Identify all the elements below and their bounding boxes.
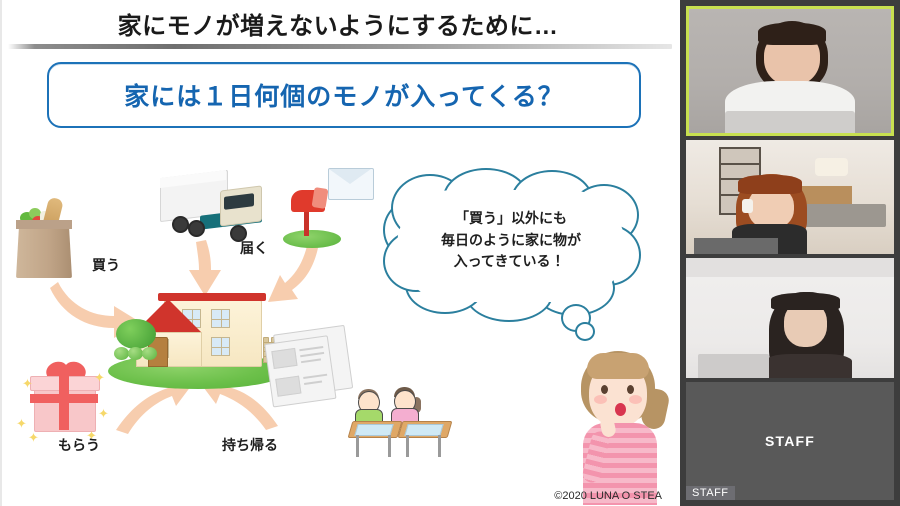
gift-box-illustration: ✦ ✦ ✦ ✦ ✦ ✦ — [28, 362, 104, 434]
mailbox-illustration — [283, 182, 343, 248]
label-receive: もらう — [58, 435, 100, 455]
newspaper-illustration — [263, 325, 357, 412]
title-divider — [8, 44, 672, 49]
video-tile-1[interactable] — [686, 6, 894, 136]
label-deliver: 届く — [240, 238, 268, 258]
video-tile-2-feed — [686, 140, 894, 254]
presentation-slide: 家にモノが増えないようにするために… 家には１日何個のモノが入ってくる？ — [0, 0, 680, 506]
label-bring-home: 持ち帰る — [222, 435, 278, 455]
subtitle-callout-box: 家には１日何個のモノが入ってくる？ — [47, 62, 641, 128]
slide-diagram: 買う 届く — [0, 130, 680, 506]
students-illustration — [350, 385, 456, 465]
video-tile-4-placeholder-label: STAFF — [686, 382, 894, 500]
grocery-bag-illustration — [12, 198, 76, 278]
video-tile-4-name-badge: STAFF — [686, 486, 735, 500]
thought-bubble-text: 「買う」以外にも 毎日のように家に物が 入ってきている ！ — [401, 208, 621, 273]
thought-bubble: 「買う」以外にも 毎日のように家に物が 入ってきている ！ — [383, 168, 638, 323]
video-tile-3[interactable] — [686, 258, 894, 378]
house-illustration — [108, 275, 288, 390]
label-buy: 買う — [92, 255, 120, 275]
girl-illustration — [565, 345, 675, 505]
screen-root: 家にモノが増えないようにするために… 家には１日何個のモノが入ってくる？ — [0, 0, 900, 506]
slide-title: 家にモノが増えないようにするために… — [18, 6, 658, 40]
copyright-text: ©2020 LUNA O STEA — [554, 490, 662, 502]
delivery-truck-illustration — [160, 168, 270, 240]
subtitle-text: 家には１日何個のモノが入ってくる？ — [124, 77, 564, 113]
video-tile-2[interactable] — [686, 140, 894, 254]
video-tile-3-feed — [686, 258, 894, 378]
video-tile-4[interactable]: STAFF STAFF — [686, 382, 894, 500]
video-participants-panel: STAFF STAFF — [680, 0, 900, 506]
envelope-icon — [328, 168, 374, 200]
video-tile-1-feed — [689, 9, 891, 133]
